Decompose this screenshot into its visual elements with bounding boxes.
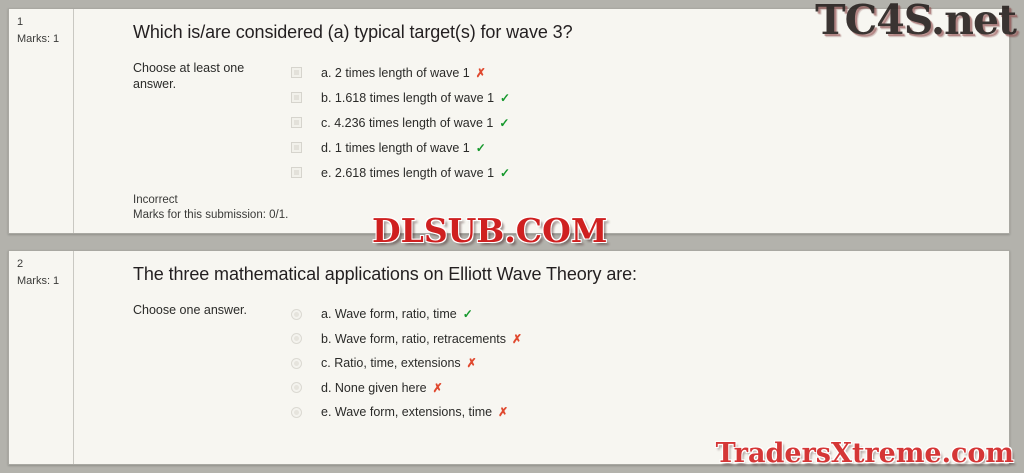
wrong-icon: ✗ [498, 405, 508, 419]
answer-option[interactable]: e. 2.618 times length of wave 1 ✓ [291, 160, 1009, 185]
radio-cell[interactable] [291, 309, 321, 320]
answer-option[interactable]: d. None given here ✗ [291, 376, 1009, 401]
question-marks: Marks: 1 [17, 32, 73, 47]
answer-option[interactable]: a. 2 times length of wave 1 ✗ [291, 60, 1009, 85]
question-feedback: Incorrect Marks for this submission: 0/1… [133, 193, 288, 223]
radio-icon[interactable] [291, 382, 302, 393]
question-info-column: 2 Marks: 1 [9, 251, 74, 464]
feedback-status: Incorrect [133, 193, 288, 208]
answer-label: b. 1.618 times length of wave 1 [321, 91, 494, 105]
correct-icon: ✓ [500, 166, 510, 180]
watermark-tc4s: TC4S.net [815, 0, 1016, 44]
radio-icon[interactable] [291, 333, 302, 344]
radio-icon[interactable] [291, 407, 302, 418]
feedback-marks: Marks for this submission: 0/1. [133, 208, 288, 223]
watermark-tradersxtreme: TradersXtreme.com [716, 438, 1014, 469]
question-number: 1 [17, 15, 73, 30]
wrong-icon: ✗ [433, 381, 443, 395]
checkbox-icon[interactable] [291, 167, 302, 178]
watermark-dlsub: DLSUB.COM [372, 211, 607, 250]
answer-label: a. 2 times length of wave 1 [321, 66, 470, 80]
radio-cell[interactable] [291, 407, 321, 418]
wrong-icon: ✗ [512, 332, 522, 346]
quiz-review-page: 1 Marks: 1 Which is/are considered (a) t… [0, 0, 1024, 473]
radio-icon[interactable] [291, 358, 302, 369]
radio-cell[interactable] [291, 358, 321, 369]
question-panel: 2 Marks: 1 The three mathematical applic… [8, 250, 1010, 465]
radio-cell[interactable] [291, 333, 321, 344]
radio-icon[interactable] [291, 309, 302, 320]
correct-icon: ✓ [500, 91, 510, 105]
checkbox-cell[interactable] [291, 67, 321, 78]
answer-option[interactable]: d. 1 times length of wave 1 ✓ [291, 135, 1009, 160]
answer-option[interactable]: e. Wave form, extensions, time ✗ [291, 400, 1009, 425]
answer-list: a. 2 times length of wave 1 ✗ b. 1.618 t… [263, 60, 1009, 185]
radio-cell[interactable] [291, 382, 321, 393]
answer-instruction: Choose at least one answer. [133, 60, 263, 185]
answer-option[interactable]: b. Wave form, ratio, retracements ✗ [291, 327, 1009, 352]
wrong-icon: ✗ [476, 66, 486, 80]
question-marks: Marks: 1 [17, 274, 73, 289]
checkbox-icon[interactable] [291, 92, 302, 103]
answer-label: c. 4.236 times length of wave 1 [321, 116, 493, 130]
wrong-icon: ✗ [467, 356, 477, 370]
answer-option[interactable]: c. Ratio, time, extensions ✗ [291, 351, 1009, 376]
answer-option[interactable]: b. 1.618 times length of wave 1 ✓ [291, 85, 1009, 110]
checkbox-icon[interactable] [291, 117, 302, 128]
answer-option[interactable]: a. Wave form, ratio, time ✓ [291, 302, 1009, 327]
answer-label: e. 2.618 times length of wave 1 [321, 166, 494, 180]
answer-label: d. None given here [321, 381, 427, 395]
correct-icon: ✓ [476, 141, 486, 155]
checkbox-cell[interactable] [291, 142, 321, 153]
correct-icon: ✓ [463, 307, 473, 321]
answer-label: c. Ratio, time, extensions [321, 356, 461, 370]
checkbox-cell[interactable] [291, 117, 321, 128]
checkbox-icon[interactable] [291, 67, 302, 78]
answer-instruction: Choose one answer. [133, 302, 263, 425]
question-title: The three mathematical applications on E… [75, 251, 1009, 286]
question-content: Choose at least one answer. a. 2 times l… [75, 44, 1009, 185]
question-content: Choose one answer. a. Wave form, ratio, … [75, 286, 1009, 425]
answer-label: b. Wave form, ratio, retracements [321, 332, 506, 346]
checkbox-cell[interactable] [291, 92, 321, 103]
question-info-column: 1 Marks: 1 [9, 9, 74, 233]
answer-label: d. 1 times length of wave 1 [321, 141, 470, 155]
question-number: 2 [17, 257, 73, 272]
question-body: The three mathematical applications on E… [75, 251, 1009, 464]
answer-label: e. Wave form, extensions, time [321, 405, 492, 419]
answer-label: a. Wave form, ratio, time [321, 307, 457, 321]
answer-list: a. Wave form, ratio, time ✓ b. Wave form… [263, 302, 1009, 425]
checkbox-cell[interactable] [291, 167, 321, 178]
answer-option[interactable]: c. 4.236 times length of wave 1 ✓ [291, 110, 1009, 135]
correct-icon: ✓ [499, 116, 509, 130]
checkbox-icon[interactable] [291, 142, 302, 153]
